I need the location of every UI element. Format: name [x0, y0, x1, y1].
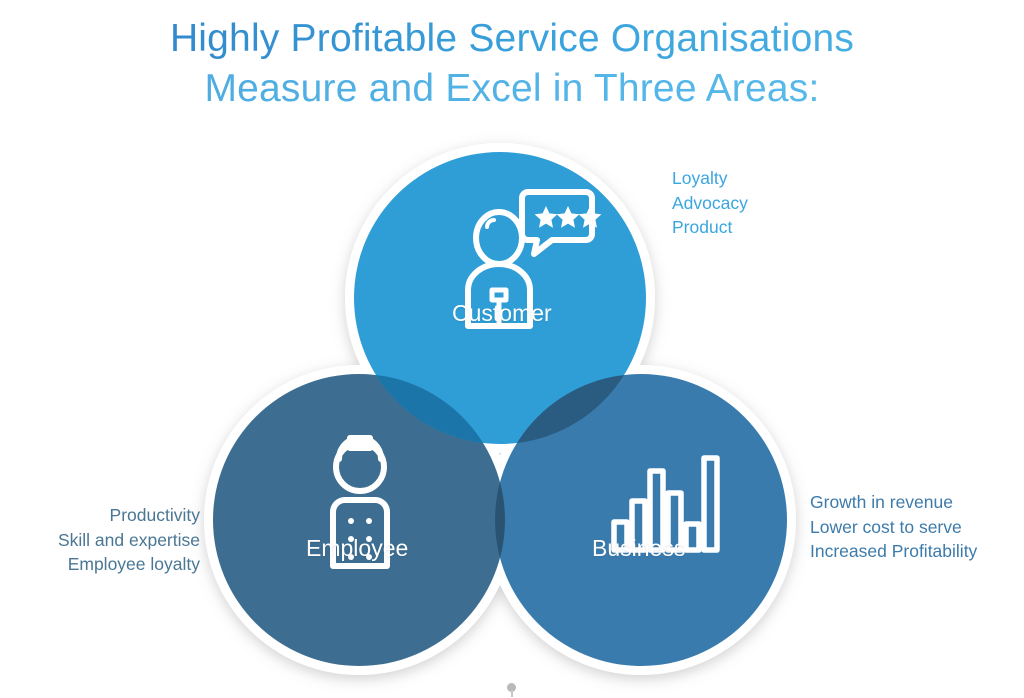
- page-title: Highly Profitable Service Organisations …: [0, 14, 1024, 114]
- circle-label-business: Business: [592, 535, 685, 562]
- title-line-1: Highly Profitable Service Organisations: [0, 14, 1024, 64]
- annotation-customer-outcomes: Loyalty Advocacy Product: [672, 166, 748, 240]
- map-pin-marker-icon: [507, 683, 516, 697]
- annotation-employee-outcomes: Productivity Skill and expertise Employe…: [8, 503, 200, 577]
- circle-label-customer: Customer: [452, 300, 552, 327]
- marker-stem: [511, 690, 513, 697]
- title-line-2: Measure and Excel in Three Areas:: [0, 64, 1024, 114]
- annotation-business-outcomes: Growth in revenue Lower cost to serve In…: [810, 490, 977, 564]
- slide-canvas: Highly Profitable Service Organisations …: [0, 0, 1024, 698]
- circle-label-employee: Employee: [306, 535, 408, 562]
